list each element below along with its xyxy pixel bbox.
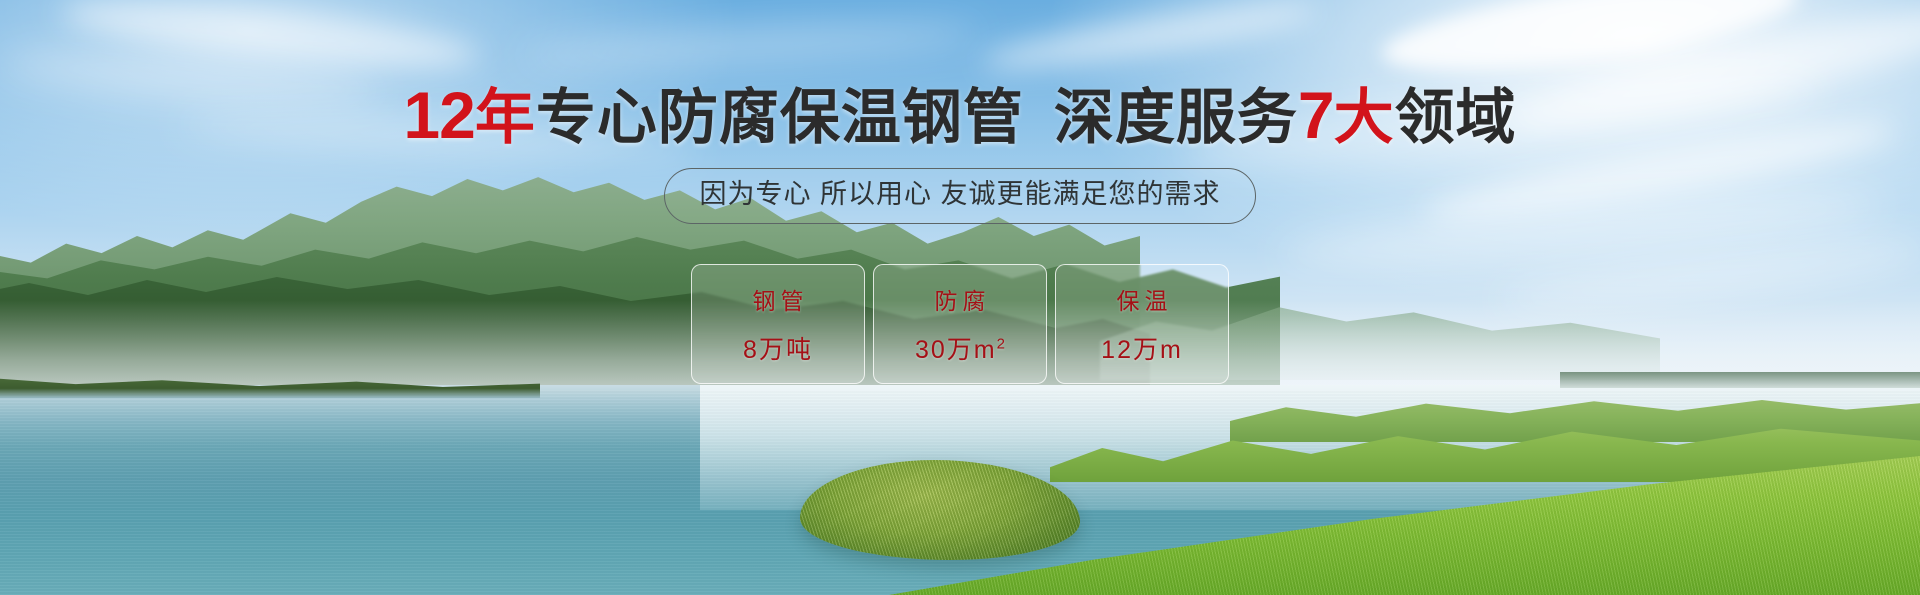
- headline-seven-number: 7: [1298, 78, 1334, 152]
- stat-value-text: 8万吨: [743, 336, 813, 364]
- banner-subtitle: 因为专心 所以用心 友诚更能满足您的需求: [664, 168, 1255, 224]
- hero-banner: 12年专心防腐保温钢管深度服务7大领域 因为专心 所以用心 友诚更能满足您的需求…: [0, 0, 1920, 595]
- headline-main-text: 专心防腐保温钢管: [536, 84, 1024, 151]
- headline-seven-unit: 大: [1334, 84, 1395, 151]
- headline-years-number: 12: [403, 78, 474, 152]
- headline-service-text: 深度服务: [1054, 84, 1298, 151]
- headline-field-text: 领域: [1395, 84, 1517, 151]
- stat-box-anticorrosion[interactable]: 防腐 30万m2: [873, 264, 1047, 384]
- headline-years-unit: 年: [475, 84, 536, 151]
- banner-headline: 12年专心防腐保温钢管深度服务7大领域: [0, 82, 1920, 148]
- stat-box-steel-pipe[interactable]: 钢管 8万吨: [691, 264, 865, 384]
- stat-label: 保温: [1112, 282, 1173, 316]
- stat-label: 防腐: [930, 282, 991, 316]
- stat-value-superscript: 2: [997, 336, 1005, 353]
- stat-label: 钢管: [748, 282, 809, 316]
- stat-value-text: 12万m: [1101, 336, 1183, 364]
- banner-subtitle-wrap: 因为专心 所以用心 友诚更能满足您的需求: [0, 168, 1920, 224]
- stat-box-insulation[interactable]: 保温 12万m: [1055, 264, 1229, 384]
- stat-value: 8万吨: [743, 330, 813, 366]
- stat-value: 30万m2: [915, 330, 1005, 366]
- stat-value: 12万m: [1101, 330, 1183, 366]
- stat-value-text: 30万m: [915, 336, 997, 364]
- stat-box-group: 钢管 8万吨 防腐 30万m2 保温 12万m: [0, 264, 1920, 384]
